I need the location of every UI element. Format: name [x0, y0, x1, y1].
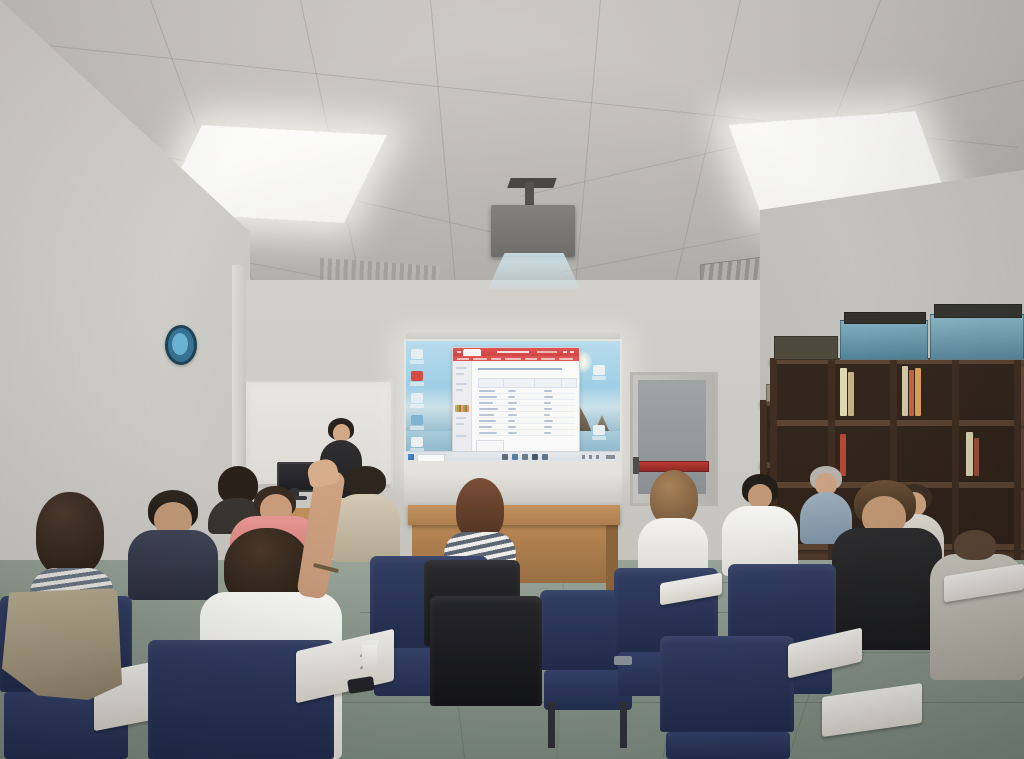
desktop-icon-1[interactable] — [410, 349, 424, 365]
table-row — [478, 430, 575, 436]
paper-cup-lid — [360, 640, 379, 645]
book — [902, 366, 908, 416]
table-header-cell — [478, 378, 504, 388]
projection-screen-roller — [406, 330, 620, 339]
tray-icon-2[interactable] — [589, 455, 592, 459]
storage-box — [930, 314, 1024, 360]
book — [966, 432, 973, 476]
taskbar-app-1[interactable] — [502, 454, 508, 460]
student-black-tshirt — [832, 480, 942, 650]
table-header-cell — [561, 378, 577, 388]
desktop-icon-4[interactable] — [410, 415, 424, 431]
storage-box-lid — [844, 312, 926, 324]
book — [848, 372, 854, 416]
classroom-photo — [0, 0, 1024, 759]
content-title-line — [478, 368, 562, 370]
start-button-icon[interactable] — [408, 454, 414, 460]
book — [974, 438, 979, 476]
student-white-tshirt — [722, 474, 798, 576]
projector-icon — [491, 205, 575, 257]
taskbar-app-2[interactable] — [512, 454, 518, 460]
chair-right-front[interactable] — [660, 636, 794, 759]
paper-cup[interactable] — [362, 642, 377, 666]
search-input[interactable] — [417, 454, 445, 461]
application-window[interactable] — [452, 347, 580, 457]
taskbar-app-3[interactable] — [522, 454, 528, 460]
desktop-icon-2[interactable] — [410, 371, 424, 387]
sidebar-logo-badge — [455, 405, 469, 412]
table-header-cell — [503, 378, 535, 388]
table-header-cell — [534, 378, 562, 388]
storage-box — [774, 336, 838, 360]
desktop-icon-3[interactable] — [410, 393, 424, 409]
student-right-curly — [638, 470, 708, 580]
desktop-icon-right-2[interactable] — [592, 425, 606, 441]
wall-clock-icon — [165, 325, 197, 365]
taskbar-app-4[interactable] — [532, 454, 538, 460]
book — [840, 368, 847, 416]
clock-tray[interactable] — [606, 455, 615, 459]
taskbar-app-5[interactable] — [542, 454, 548, 460]
projected-desktop — [406, 341, 620, 461]
window-active-tab[interactable] — [463, 349, 481, 356]
storage-box-lid — [934, 304, 1022, 318]
projection-screen — [404, 339, 622, 474]
book — [909, 370, 914, 416]
desktop-icon-right[interactable] — [592, 365, 606, 381]
windows-taskbar[interactable] — [406, 451, 620, 461]
tray-icon-1[interactable] — [582, 455, 585, 459]
window-sidebar[interactable] — [453, 361, 472, 456]
book — [915, 368, 921, 416]
student-right-edge — [930, 530, 1024, 680]
storage-box — [840, 320, 928, 360]
tray-icon-3[interactable] — [596, 455, 599, 459]
chair-center-dark[interactable] — [430, 596, 542, 716]
window-content-area — [472, 362, 578, 456]
